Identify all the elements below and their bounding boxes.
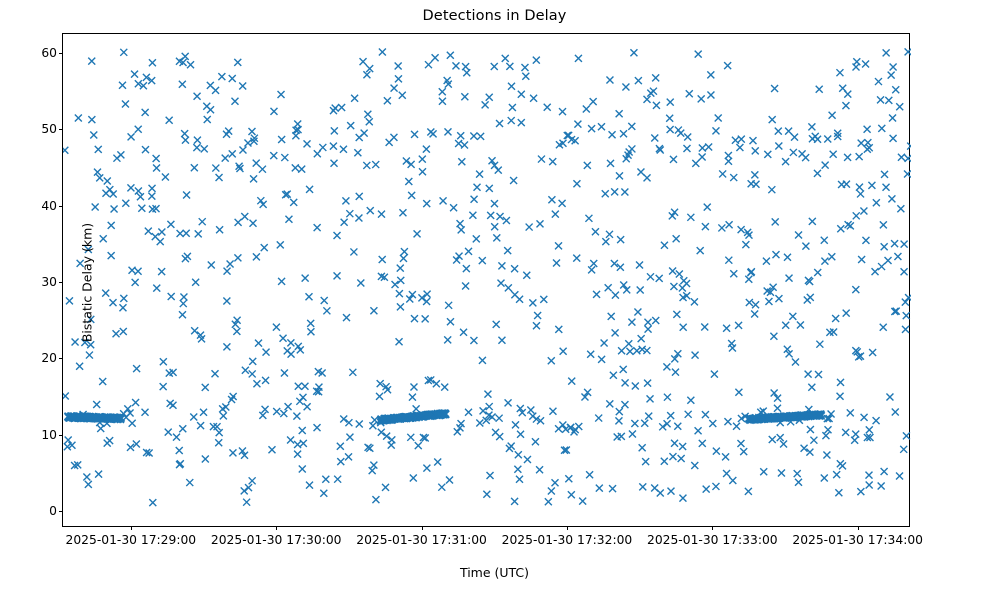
y-axis-label: Bistatic Delay (km) <box>80 36 95 530</box>
x-tick-label: 2025-01-30 17:33:00 <box>647 533 778 547</box>
x-tick-label: 2025-01-30 17:30:00 <box>211 533 342 547</box>
x-tick-mark <box>422 526 423 530</box>
y-tick-mark <box>59 358 63 359</box>
x-tick-mark <box>276 526 277 530</box>
y-tick-label: 10 <box>41 428 57 442</box>
x-tick-label: 2025-01-30 17:32:00 <box>502 533 633 547</box>
y-tick-mark <box>59 206 63 207</box>
y-tick-label: 20 <box>41 351 57 365</box>
y-tick-mark <box>59 282 63 283</box>
x-tick-mark <box>858 526 859 530</box>
y-tick-label: 60 <box>41 46 57 60</box>
plot-area[interactable]: Bistatic Delay (km) 0102030405060 2025-0… <box>62 33 910 527</box>
y-tick-mark <box>59 129 63 130</box>
x-tick-label: 2025-01-30 17:29:00 <box>66 533 197 547</box>
y-tick-mark <box>59 435 63 436</box>
x-tick-mark <box>567 526 568 530</box>
y-tick-label: 0 <box>49 504 57 518</box>
y-tick-mark <box>59 511 63 512</box>
x-tick-mark <box>131 526 132 530</box>
x-tick-label: 2025-01-30 17:31:00 <box>356 533 487 547</box>
y-tick-label: 50 <box>41 122 57 136</box>
y-tick-mark <box>59 53 63 54</box>
y-tick-label: 30 <box>41 275 57 289</box>
x-tick-label: 2025-01-30 17:34:00 <box>792 533 923 547</box>
y-tick-label: 40 <box>41 199 57 213</box>
scatter-plot <box>63 34 911 528</box>
figure-canvas: Detections in Delay Bistatic Delay (km) … <box>0 0 989 590</box>
x-tick-mark <box>712 526 713 530</box>
page-title: Detections in Delay <box>0 8 989 24</box>
x-axis-label: Time (UTC) <box>0 565 989 580</box>
